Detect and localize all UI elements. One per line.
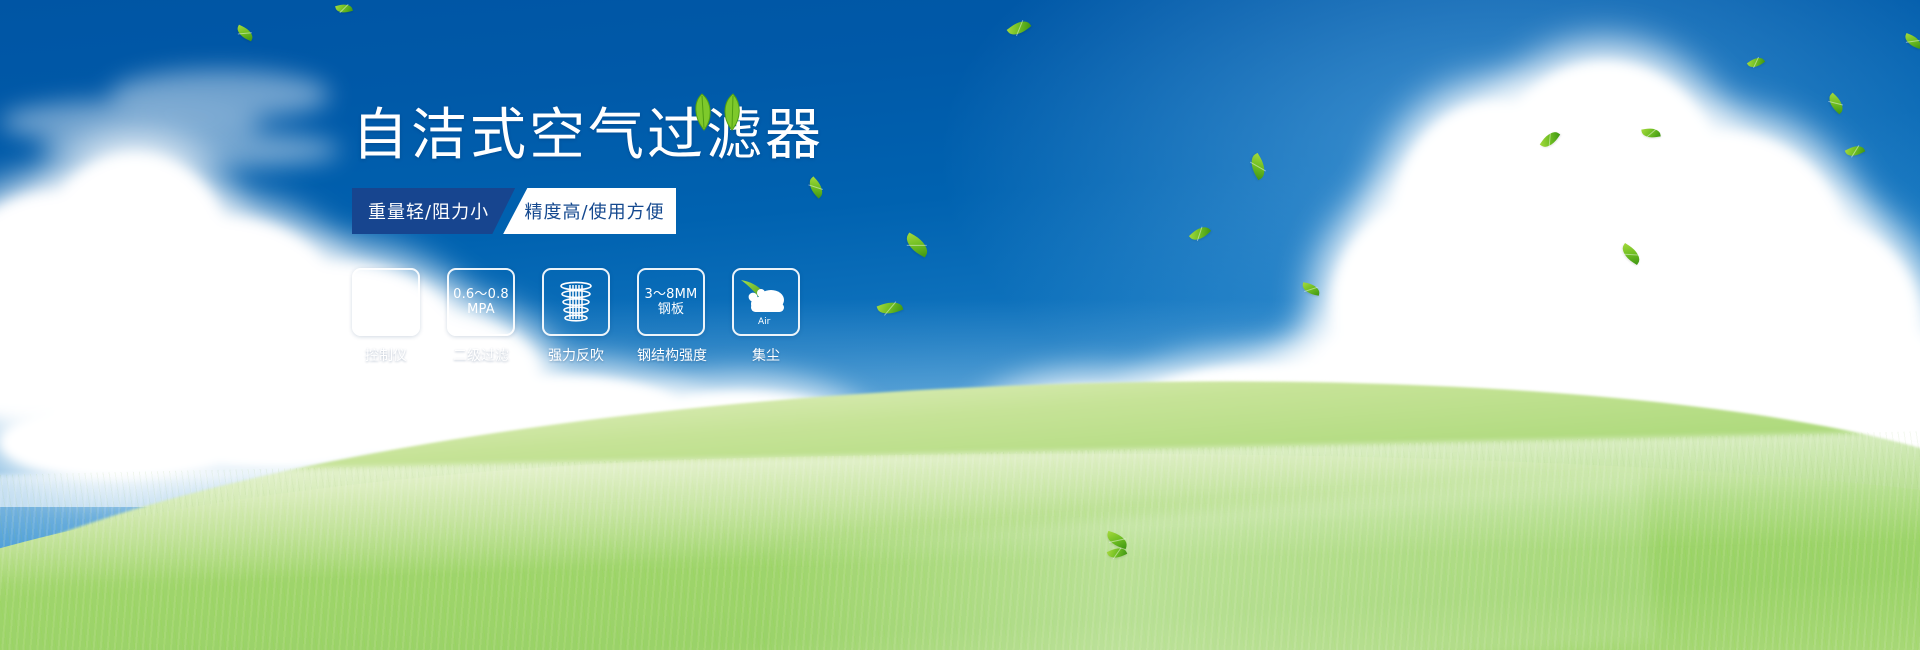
hero-banner: 自洁式空气过滤器 重量轻/阻力小 精度高/使用方便: [0, 0, 1920, 650]
grass-field: [0, 360, 1920, 650]
svg-text:OFF: OFF: [394, 318, 405, 324]
gauge-icon: NO OFF: [358, 276, 414, 328]
tab-weight-resistance[interactable]: 重量轻/阻力小: [352, 188, 515, 234]
air-cloud-icon: Air: [737, 276, 795, 328]
badge-blowback[interactable]: 强力反吹: [542, 268, 610, 365]
badge-two-stage-filter[interactable]: 0.6～0.8 MPA 二级过滤: [447, 268, 515, 365]
badge-label: 集尘: [732, 345, 800, 365]
badge-steel-strength[interactable]: 3～8MM 钢板 钢结构强度: [637, 268, 705, 365]
badge-label: 二级过滤: [447, 345, 515, 365]
air-label: Air: [758, 317, 771, 327]
badge-controller[interactable]: NO OFF 控制仪: [352, 268, 420, 365]
tab-precision-convenience[interactable]: 精度高/使用方便: [503, 188, 676, 234]
leaf-pair-icon: [688, 92, 748, 132]
feature-tabs: 重量轻/阻力小 精度高/使用方便: [352, 188, 676, 234]
badge-box: NO OFF: [352, 268, 420, 336]
title-leaf-decoration: [688, 92, 748, 132]
svg-text:NO: NO: [365, 299, 374, 306]
badge-box: 3～8MM 钢板: [637, 268, 705, 336]
badge-label: 控制仪: [352, 345, 420, 365]
badge-text-secondary: 钢板: [658, 302, 684, 317]
feature-badges: NO OFF 控制仪 0.6～0.8 MPA 二级过滤: [352, 268, 1112, 365]
badge-label: 强力反吹: [542, 345, 610, 365]
banner-content: 自洁式空气过滤器 重量轻/阻力小 精度高/使用方便: [352, 108, 1112, 365]
badge-text-secondary: MPA: [467, 302, 495, 317]
badge-box: Air: [732, 268, 800, 336]
badge-box: [542, 268, 610, 336]
badge-text-primary: 0.6～0.8: [453, 287, 509, 302]
coil-blowback-icon: [551, 277, 601, 327]
badge-box: 0.6～0.8 MPA: [447, 268, 515, 336]
badge-label: 钢结构强度: [637, 345, 705, 365]
badge-dust-collection[interactable]: Air 集尘: [732, 268, 800, 365]
badge-text-primary: 3～8MM: [645, 287, 698, 302]
